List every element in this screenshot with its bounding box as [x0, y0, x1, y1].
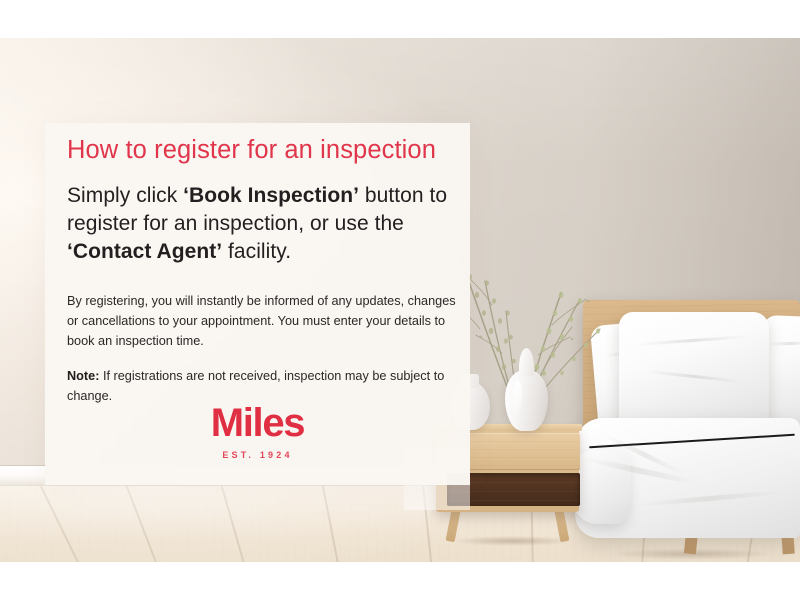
- logo-wordmark: Miles: [45, 403, 470, 443]
- logo-established-text: EST. 1924: [45, 450, 470, 460]
- page-title: How to register for an inspection: [67, 135, 457, 165]
- registration-info-paragraph: By registering, you will instantly be in…: [67, 291, 457, 351]
- lede-after: facility.: [222, 240, 291, 263]
- room-photograph: How to register for an inspection Simply…: [0, 38, 800, 562]
- tall-vase: [505, 348, 548, 431]
- promotional-image: How to register for an inspection Simply…: [0, 0, 800, 600]
- lede-paragraph: Simply click ‘Book Inspection’ button to…: [67, 182, 457, 265]
- pillow: [619, 312, 769, 434]
- note-label: Note:: [67, 369, 99, 383]
- letterbox-bottom: [0, 562, 800, 600]
- note-text: If registrations are not received, inspe…: [67, 369, 444, 403]
- contact-agent-label: ‘Contact Agent’: [67, 240, 222, 263]
- lede-before: Simply click: [67, 184, 183, 207]
- book-inspection-label: ‘Book Inspection’: [183, 184, 359, 207]
- brand-logo: Miles EST. 1924: [45, 403, 470, 460]
- letterbox-top: [0, 0, 800, 38]
